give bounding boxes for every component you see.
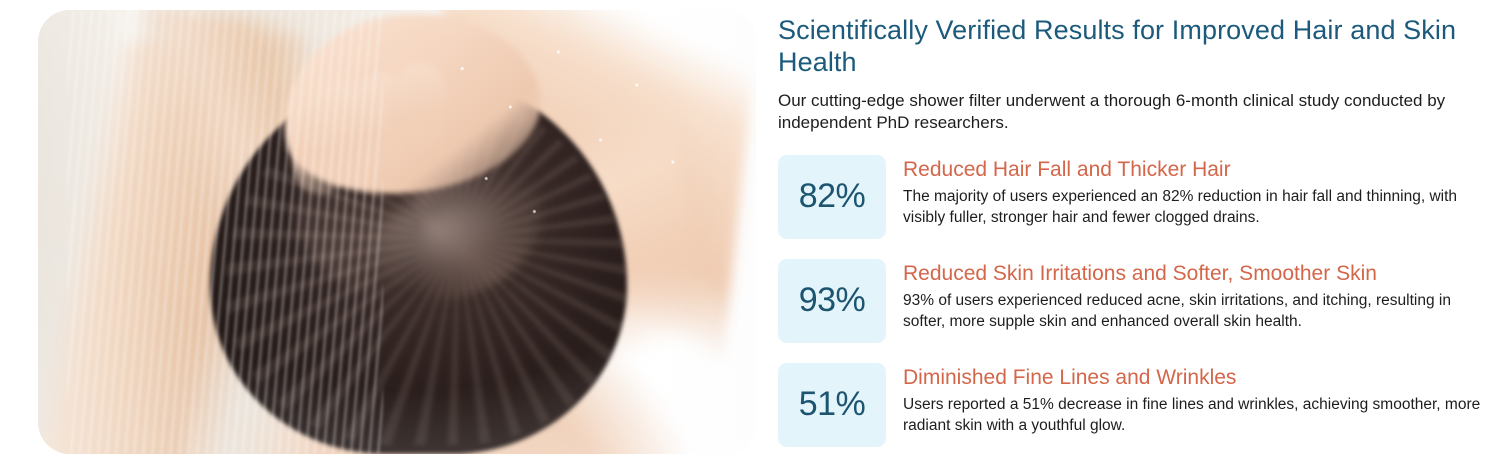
stat-value-badge: 51% xyxy=(778,363,886,447)
copy-pane: Scientifically Verified Results for Impr… xyxy=(770,0,1500,469)
results-section: Scientifically Verified Results for Impr… xyxy=(0,0,1500,469)
page-title: Scientifically Verified Results for Impr… xyxy=(778,14,1470,79)
subheading-text: Our cutting-edge shower filter underwent… xyxy=(778,90,1476,135)
stat-body: Diminished Fine Lines and Wrinkles Users… xyxy=(886,363,1500,437)
stat-description: 93% of users experienced reduced acne, s… xyxy=(903,291,1488,332)
stat-title: Diminished Fine Lines and Wrinkles xyxy=(903,365,1488,391)
stat-item: 82% Reduced Hair Fall and Thicker Hair T… xyxy=(778,155,1500,239)
shower-hair-wash-photo xyxy=(38,10,756,454)
stat-description: Users reported a 51% decrease in fine li… xyxy=(903,395,1488,436)
stat-title: Reduced Hair Fall and Thicker Hair xyxy=(903,157,1488,183)
stat-body: Reduced Hair Fall and Thicker Hair The m… xyxy=(886,155,1500,229)
stats-list: 82% Reduced Hair Fall and Thicker Hair T… xyxy=(778,155,1500,447)
stat-body: Reduced Skin Irritations and Softer, Smo… xyxy=(886,259,1500,333)
stat-description: The majority of users experienced an 82%… xyxy=(903,187,1488,228)
stat-value-badge: 93% xyxy=(778,259,886,343)
photo-pane xyxy=(0,0,770,469)
stat-value-badge: 82% xyxy=(778,155,886,239)
stat-item: 93% Reduced Skin Irritations and Softer,… xyxy=(778,259,1500,343)
stat-item: 51% Diminished Fine Lines and Wrinkles U… xyxy=(778,363,1500,447)
stat-title: Reduced Skin Irritations and Softer, Smo… xyxy=(903,261,1488,287)
photo-vignette xyxy=(38,10,756,454)
